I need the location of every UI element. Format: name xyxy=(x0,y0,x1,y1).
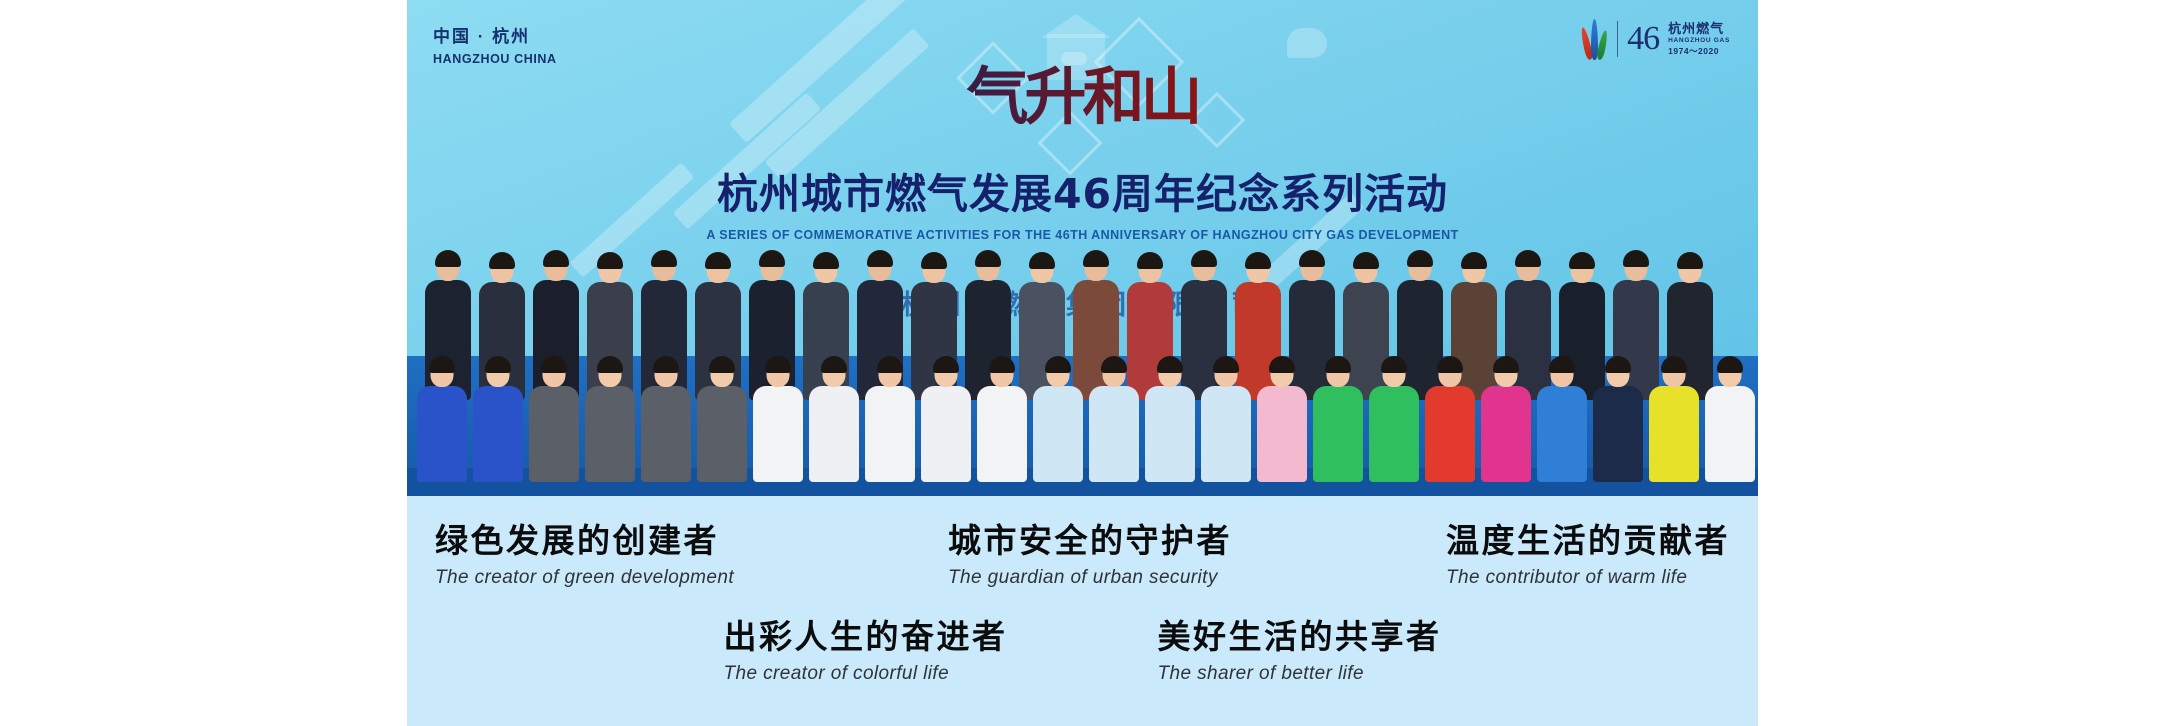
slogan-colorful-life: 出彩人生的奋进者 The creator of colorful life xyxy=(724,618,1008,685)
person xyxy=(1425,386,1475,482)
person xyxy=(529,386,579,482)
person xyxy=(1537,386,1587,482)
slogan-row-1: 绿色发展的创建者 The creator of green developmen… xyxy=(407,522,1758,589)
person xyxy=(1481,386,1531,482)
person xyxy=(921,386,971,482)
slogan-en: The contributor of warm life xyxy=(1446,567,1730,589)
person xyxy=(641,386,691,482)
location-cn: 中国 · 杭州 xyxy=(433,22,557,47)
person xyxy=(1313,386,1363,482)
person xyxy=(1397,280,1443,400)
slogan-en: The creator of green development xyxy=(435,567,734,589)
person xyxy=(473,386,523,482)
slogan-cn: 出彩人生的奋进者 xyxy=(724,618,1008,656)
slogan-cn: 城市安全的守护者 xyxy=(948,522,1232,560)
person xyxy=(1145,386,1195,482)
poster-page: 中国 · 杭州 HANGZHOU CHINA 46 杭州燃气 HANGZHOU … xyxy=(0,0,2179,726)
slogan-panel: 绿色发展的创建者 The creator of green developmen… xyxy=(407,496,1758,726)
slogan-row-2: 出彩人生的奋进者 The creator of colorful life 美好… xyxy=(407,618,1758,685)
slogan-en: The guardian of urban security xyxy=(948,567,1232,589)
person xyxy=(977,386,1027,482)
art-title: 气升和山 xyxy=(407,46,1758,136)
slogan-urban-security: 城市安全的守护者 The guardian of urban security xyxy=(948,522,1232,589)
person xyxy=(1369,386,1419,482)
person xyxy=(865,386,915,482)
person xyxy=(809,386,859,482)
slogan-cn: 美好生活的共享者 xyxy=(1158,618,1442,656)
group-photo: 中国 · 杭州 HANGZHOU CHINA 46 杭州燃气 HANGZHOU … xyxy=(407,0,1758,496)
person xyxy=(1033,386,1083,482)
person xyxy=(585,386,635,482)
slogan-better-life: 美好生活的共享者 The sharer of better life xyxy=(1158,618,1442,685)
person xyxy=(1201,386,1251,482)
slogan-green-development: 绿色发展的创建者 The creator of green developmen… xyxy=(435,522,734,589)
person xyxy=(1593,386,1643,482)
person xyxy=(417,386,467,482)
slogan-cn: 温度生活的贡献者 xyxy=(1446,522,1730,560)
slogan-en: The sharer of better life xyxy=(1158,663,1442,685)
slogan-en: The creator of colorful life xyxy=(724,663,1008,685)
person xyxy=(1089,386,1139,482)
company-name-en: HANGZHOU GAS xyxy=(1668,37,1730,45)
company-name-cn: 杭州燃气 xyxy=(1668,21,1730,37)
person xyxy=(1343,282,1389,400)
slogan-warm-life: 温度生活的贡献者 The contributor of warm life xyxy=(1446,522,1730,589)
person xyxy=(697,386,747,482)
crowd-of-people xyxy=(407,166,1758,496)
person xyxy=(1257,386,1307,482)
person xyxy=(753,386,803,482)
person xyxy=(1649,386,1699,482)
slogan-cn: 绿色发展的创建者 xyxy=(435,522,734,560)
person xyxy=(1705,386,1755,482)
